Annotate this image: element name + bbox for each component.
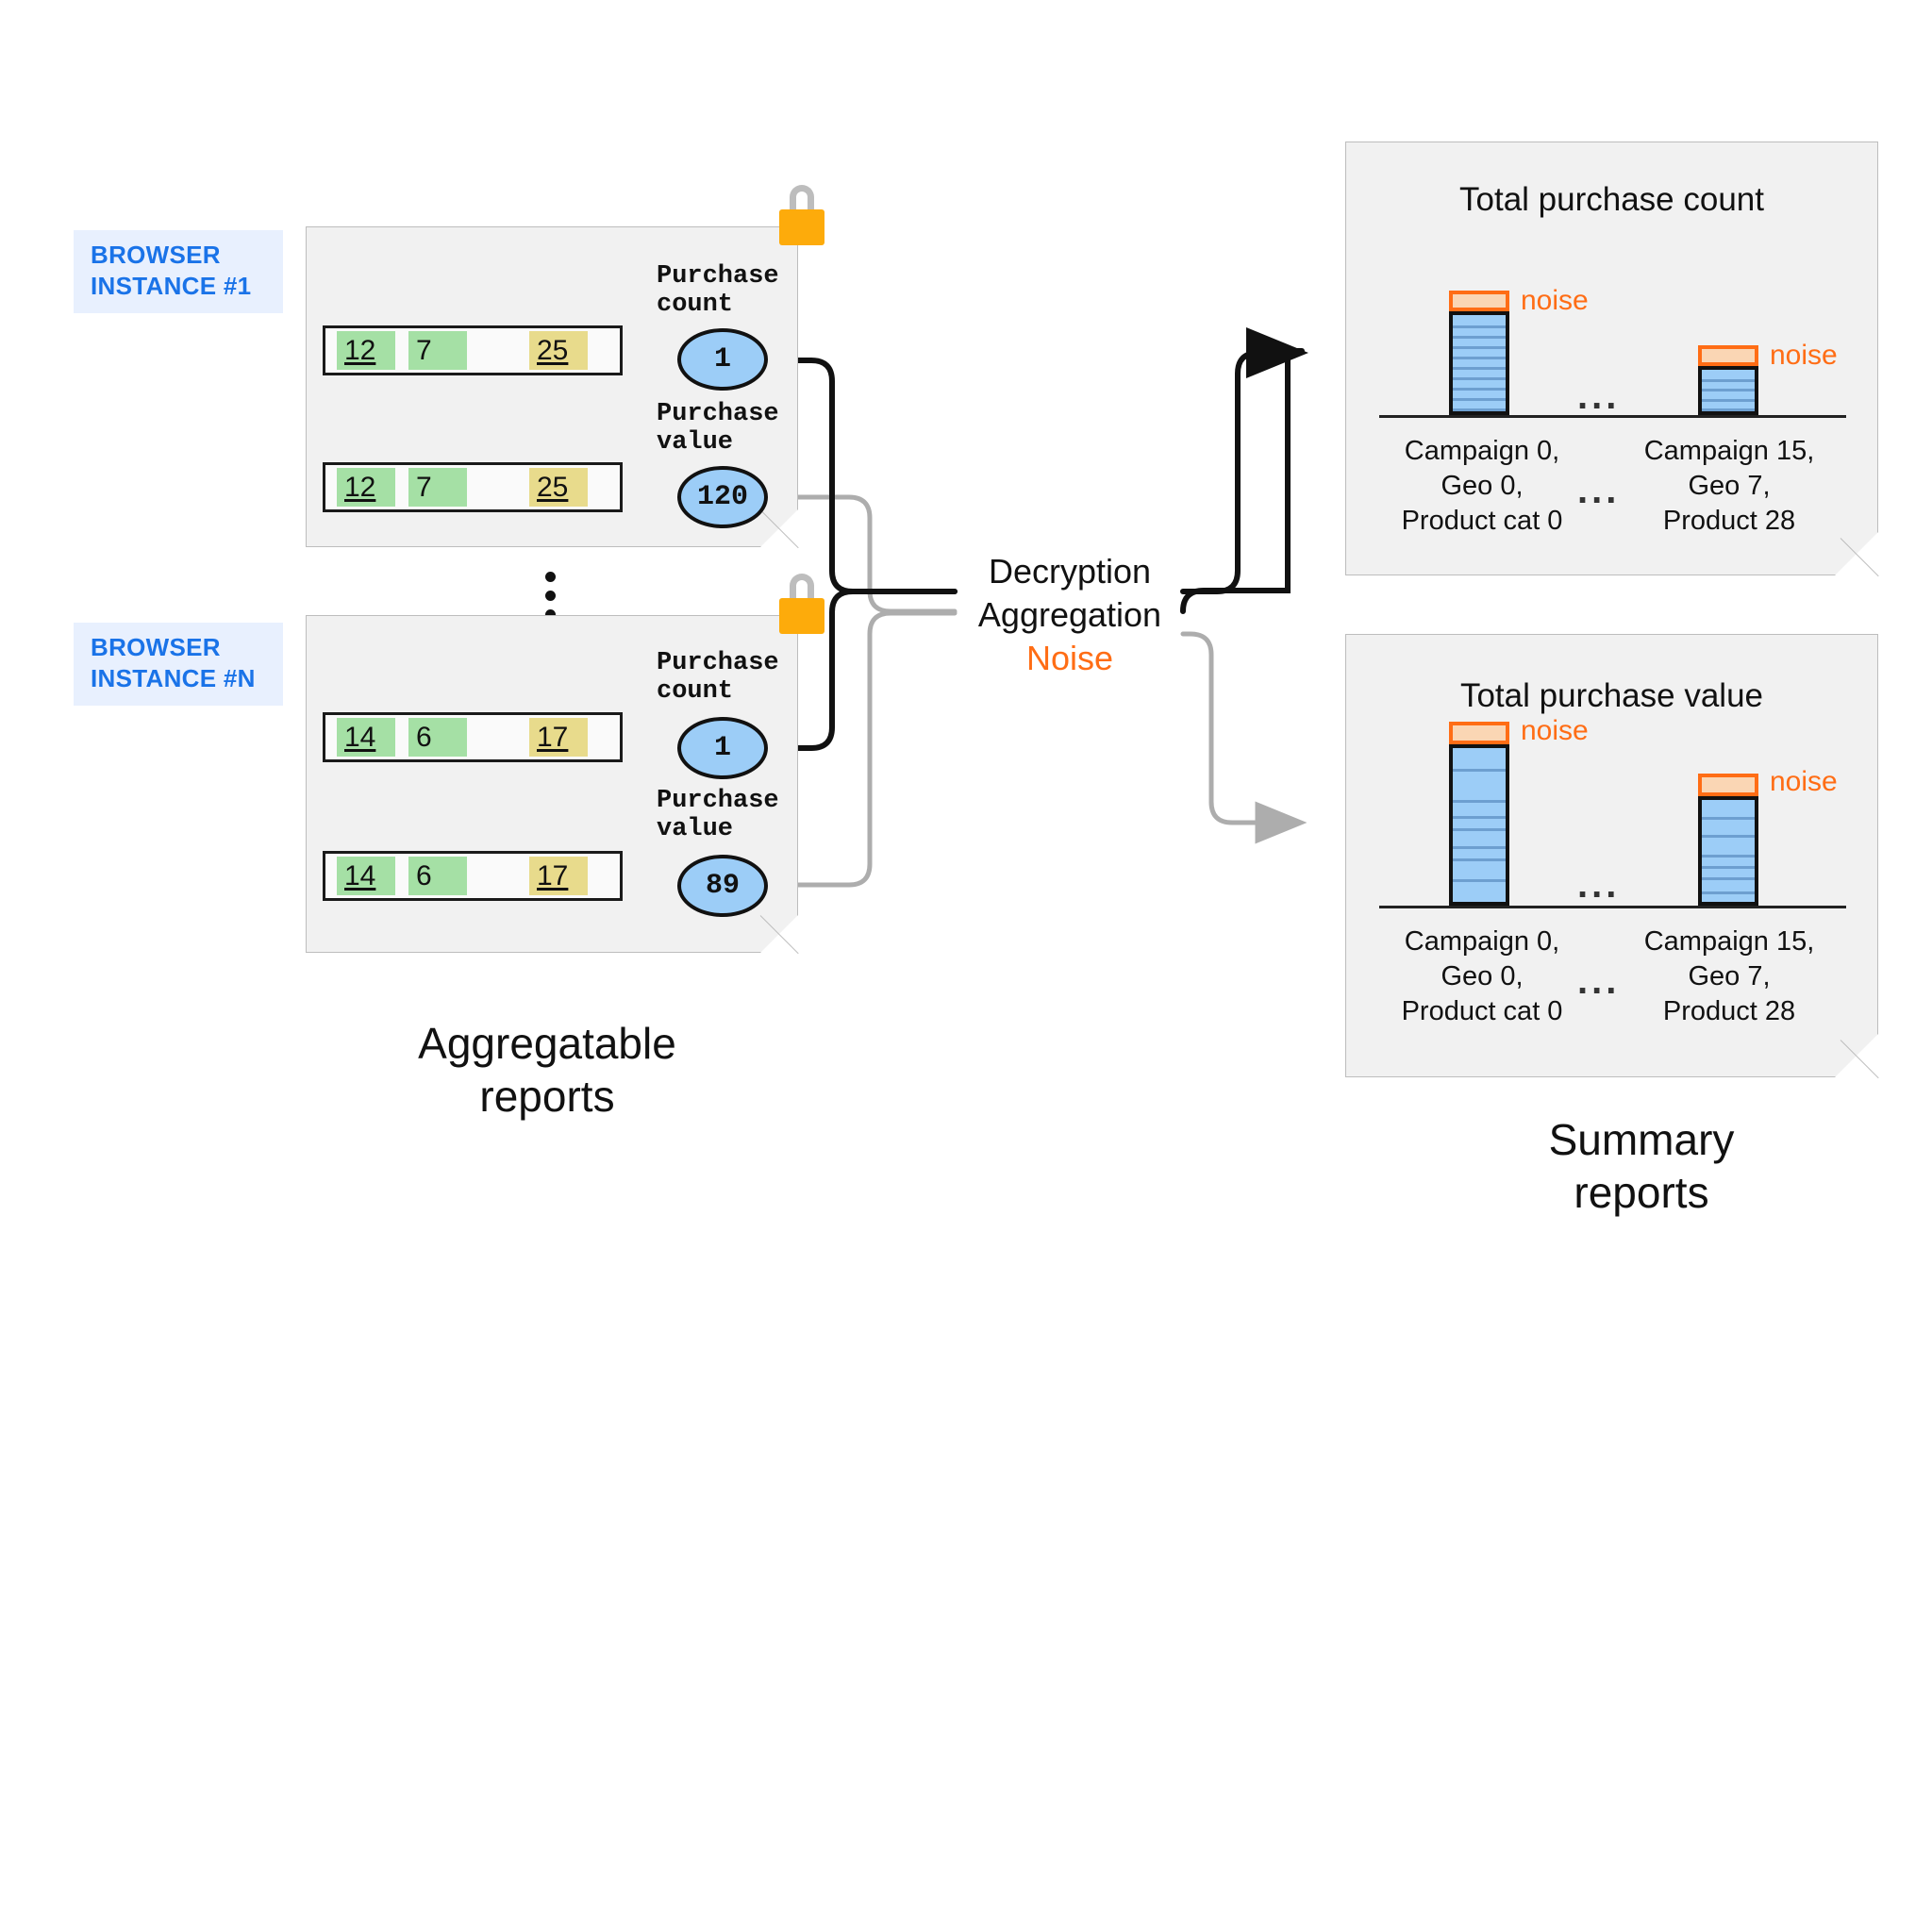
summary-count-title: Total purchase count [1345,181,1878,219]
summary-count-labels-ellipsis: ... [1577,472,1620,509]
purchase-value-label: Purchase value [657,400,779,457]
summary-count-bar-0 [1449,311,1509,415]
summary-value-noise-label-0: noise [1521,715,1589,747]
report-value-chip: 25 [529,331,588,370]
purchase-count-label: Purchase count [657,649,779,706]
report-value-chip: 17 [529,718,588,757]
report-key-chip: 14 [337,718,395,757]
purchase-count-value-bubble: 1 [677,328,768,391]
summary-count-category-1: Campaign 15, Geo 7, Product 28 [1621,434,1838,539]
report-key-chip: 6 [408,718,467,757]
report-value-chip: 17 [529,857,588,895]
summary-value-bar-1 [1698,796,1758,906]
aggregatable-reports-caption: Aggregatable reports [377,1017,717,1123]
vertical-ellipsis-icon [545,572,556,620]
aggregatable-report-row: 12 7 25 [323,325,623,375]
summary-value-labels-ellipsis: ... [1577,962,1620,1000]
summary-value-category-0: Campaign 0, Geo 0, Product cat 0 [1374,924,1591,1029]
summary-count-noise-label-1: noise [1770,340,1838,372]
summary-value-bar-0 [1449,744,1509,906]
aggregatable-report-row: 14 6 17 [323,712,623,762]
purchase-value-value-bubble: 120 [677,466,768,528]
pipeline-aggregation-text: Aggregation [955,593,1185,637]
aggregatable-report-row: 12 7 25 [323,462,623,512]
padlock-icon [779,574,824,634]
purchase-count-label: Purchase count [657,262,779,319]
summary-count-noise-label-0: noise [1521,285,1589,317]
report-key-chip: 7 [408,468,467,507]
summary-count-bar-1 [1698,366,1758,415]
pipeline-noise-text: Noise [955,637,1185,680]
summary-value-title: Total purchase value [1345,677,1878,715]
report-key-chip: 12 [337,468,395,507]
report-key-chip: 6 [408,857,467,895]
aggregatable-report-row: 14 6 17 [323,851,623,901]
pipeline-label: Decryption Aggregation Noise [955,550,1185,680]
summary-reports-caption: Summary reports [1443,1113,1840,1219]
summary-count-category-0: Campaign 0, Geo 0, Product cat 0 [1374,434,1591,539]
report-value-chip: 25 [529,468,588,507]
report-key-chip: 7 [408,331,467,370]
browser-instance-1-badge: BROWSER INSTANCE #1 [74,230,283,313]
purchase-value-label: Purchase value [657,787,779,843]
summary-value-noise-bar-0 [1449,722,1509,744]
pipeline-decryption-text: Decryption [955,550,1185,593]
report-key-chip: 14 [337,857,395,895]
summary-value-noise-bar-1 [1698,774,1758,796]
padlock-icon [779,185,824,245]
summary-count-noise-bar-0 [1449,291,1509,311]
browser-instance-n-badge: BROWSER INSTANCE #N [74,623,283,706]
summary-value-category-1: Campaign 15, Geo 7, Product 28 [1621,924,1838,1029]
purchase-value-value-bubble: 89 [677,855,768,917]
report-key-chip: 12 [337,331,395,370]
summary-value-noise-label-1: noise [1770,766,1838,798]
summary-value-bars-ellipsis: ... [1577,866,1620,904]
summary-count-noise-bar-1 [1698,345,1758,366]
diagram-canvas: BROWSER INSTANCE #1 12 7 25 12 7 25 Purc… [0,0,1932,1932]
summary-value-axis [1379,906,1846,908]
purchase-count-value-bubble: 1 [677,717,768,779]
summary-count-bars-ellipsis: ... [1577,377,1620,415]
